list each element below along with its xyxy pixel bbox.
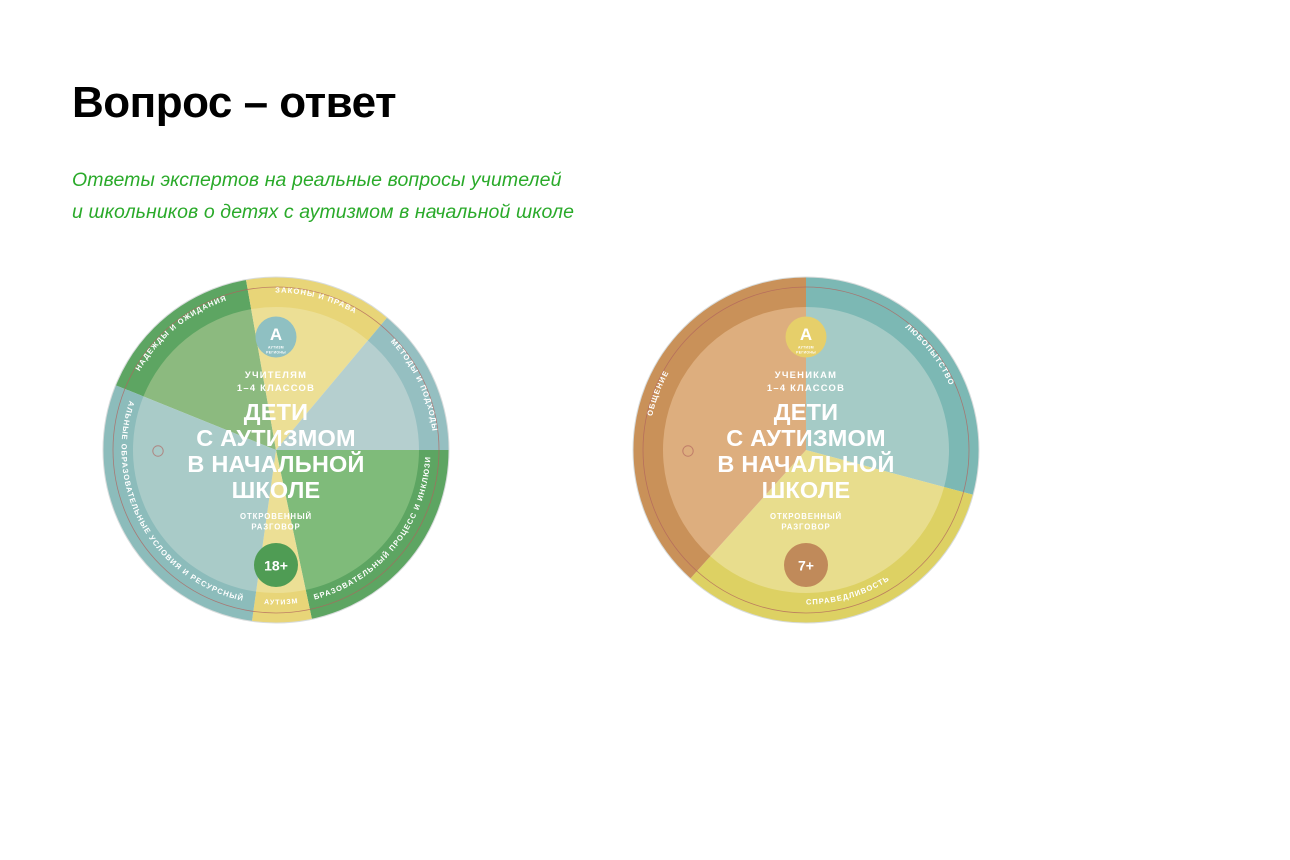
- headline-line: ШКОЛЕ: [232, 477, 321, 503]
- subline: ОТКРОВЕННЫЙ: [240, 512, 312, 521]
- audience-line-1: УЧИТЕЛЯМ: [245, 369, 307, 380]
- logo-letter: А: [270, 325, 282, 344]
- audience-line-2: 1–4 КЛАССОВ: [237, 382, 315, 393]
- headline-line: В НАЧАЛЬНОЙ: [717, 450, 894, 477]
- pupils-wheel-svg: ЛЮБОПЫТСТВОСПРАВЕДЛИВОСТЬОБЩЕНИЕААУТИЗМР…: [628, 272, 984, 628]
- logo-tagline-1: АУТИЗМ: [798, 346, 814, 350]
- age-rating-label: 18+: [264, 558, 288, 574]
- logo-letter: А: [800, 325, 812, 344]
- logo-tagline-2: РЕГИОНЫ: [796, 351, 816, 355]
- wheel-pupils[interactable]: ЛЮБОПЫТСТВОСПРАВЕДЛИВОСТЬОБЩЕНИЕААУТИЗМР…: [628, 272, 984, 628]
- audience-line-1: УЧЕНИКАМ: [775, 369, 837, 380]
- subline: ОТКРОВЕННЫЙ: [770, 512, 842, 521]
- subline: РАЗГОВОР: [251, 523, 300, 532]
- segment-ring[interactable]: [252, 590, 312, 623]
- audience-line-2: 1–4 КЛАССОВ: [767, 382, 845, 393]
- wheel-teachers[interactable]: НАДЕЖДЫ И ОЖИДАНИЯЗАКОНЫ И ПРАВАМЕТОДЫ И…: [98, 272, 454, 628]
- logo-tagline-2: РЕГИОНЫ: [266, 351, 286, 355]
- headline-line: ДЕТИ: [244, 399, 308, 425]
- subline: РАЗГОВОР: [781, 523, 830, 532]
- subtitle-line-2: и школьников о детях с аутизмом в началь…: [72, 197, 574, 229]
- headline-line: С АУТИЗМОМ: [196, 425, 356, 451]
- slide-root: Вопрос – ответ Ответы экспертов на реаль…: [0, 0, 1290, 860]
- headline-line: С АУТИЗМОМ: [726, 425, 886, 451]
- subtitle-line-1: Ответы экспертов на реальные вопросы учи…: [72, 165, 574, 197]
- headline-line: В НАЧАЛЬНОЙ: [187, 450, 364, 477]
- page-title: Вопрос – ответ: [72, 79, 396, 127]
- headline-line: ДЕТИ: [774, 399, 838, 425]
- page-subtitle: Ответы экспертов на реальные вопросы учи…: [72, 165, 574, 228]
- age-rating-label: 7+: [798, 558, 814, 574]
- teachers-wheel-svg: НАДЕЖДЫ И ОЖИДАНИЯЗАКОНЫ И ПРАВАМЕТОДЫ И…: [98, 272, 454, 628]
- headline-line: ШКОЛЕ: [762, 477, 851, 503]
- logo-tagline-1: АУТИЗМ: [268, 346, 284, 350]
